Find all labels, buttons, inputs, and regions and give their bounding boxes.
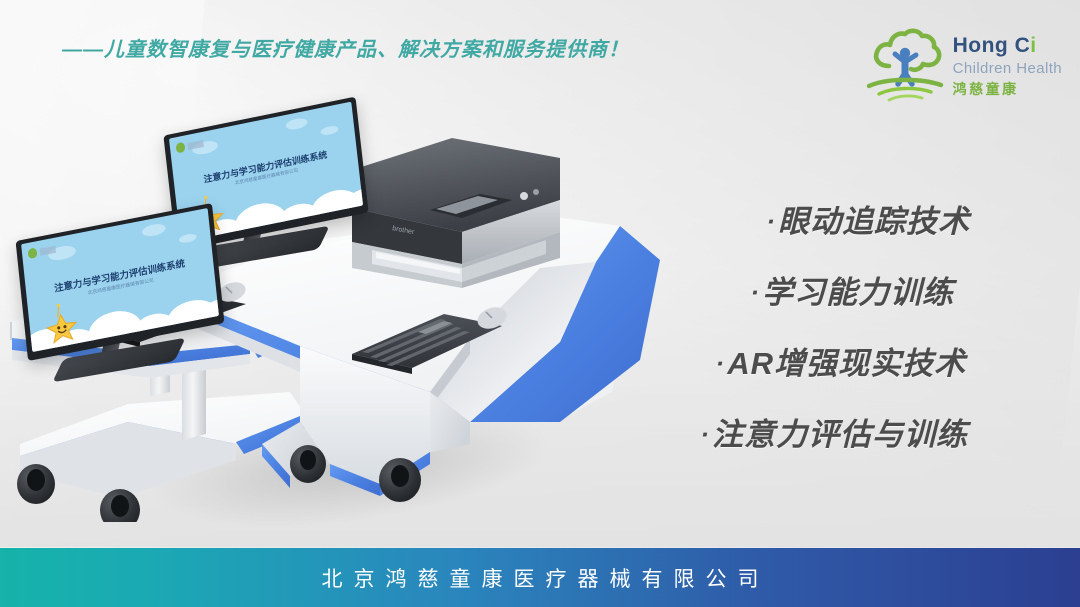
brand-name-cn: 鸿慈童康 xyxy=(953,82,1062,96)
tree-child-logo-icon xyxy=(865,22,945,104)
monitor-lower: 注意力与学习能力评估训练系统 北京鸿慈童康医疗器械有限公司 xyxy=(20,222,230,372)
brand-tagline-en: Children Health xyxy=(953,61,1062,76)
feature-label: 学习能力训练 xyxy=(762,275,954,310)
caster xyxy=(379,458,421,502)
monitor-lower-screen: 注意力与学习能力评估训练系统 北京鸿慈童康医疗器械有限公司 xyxy=(21,208,219,352)
multifunction-printer: brother xyxy=(352,138,560,288)
caster xyxy=(17,464,55,504)
cloud-decor-icon xyxy=(178,233,197,244)
screen-logo-text xyxy=(187,139,203,149)
feature-item: ·学习能力训练 xyxy=(750,267,954,312)
bullet-dot-icon: · xyxy=(766,206,776,236)
brand-name-en-text: Hong Ci xyxy=(953,34,1037,57)
brand-logo-text: Hong Ci Children Health 鸿慈童康 xyxy=(953,31,1062,96)
screen-logo-mark-icon xyxy=(176,142,186,154)
cloud-decor-icon xyxy=(141,222,166,238)
header-tagline: ——儿童数智康复与医疗健康产品、解决方案和服务提供商！ xyxy=(62,33,629,62)
feature-list: ·眼动追踪技术 ·学习能力训练 ·AR增强现实技术 ·注意力评估与训练 xyxy=(700,196,962,454)
brand-logo: Hong Ci Children Health 鸿慈童康 xyxy=(865,22,1062,104)
caster xyxy=(290,445,326,483)
screen-logo-text xyxy=(40,245,56,255)
feature-item: ·注意力评估与训练 xyxy=(700,409,968,454)
bullet-dot-icon: · xyxy=(716,348,726,378)
feature-item: ·眼动追踪技术 xyxy=(766,196,970,241)
feature-label: 注意力评估与训练 xyxy=(712,417,968,452)
footer-bar: 北京鸿慈童康医疗器械有限公司 xyxy=(0,548,1080,607)
slide-root: ——儿童数智康复与医疗健康产品、解决方案和服务提供商！ xyxy=(0,0,1080,607)
screen-logo-mark-icon xyxy=(28,247,38,259)
cloud-decor-icon xyxy=(285,117,308,131)
bullet-dot-icon: · xyxy=(700,419,710,449)
feature-label: AR增强现实技术 xyxy=(727,346,966,381)
company-name: 北京鸿慈童康医疗器械有限公司 xyxy=(311,563,770,593)
cloud-decor-icon xyxy=(320,125,339,137)
yellow-star-mascot xyxy=(41,297,81,346)
feature-item: ·AR增强现实技术 xyxy=(716,338,966,383)
product-image: brother 注意力与学习能力评估训练系统 北京鸿慈童康医疗器械有限公 xyxy=(0,92,700,522)
bullet-dot-icon: · xyxy=(750,277,760,307)
feature-label: 眼动追踪技术 xyxy=(778,204,970,239)
brand-name-en: Hong Ci xyxy=(953,35,1062,56)
